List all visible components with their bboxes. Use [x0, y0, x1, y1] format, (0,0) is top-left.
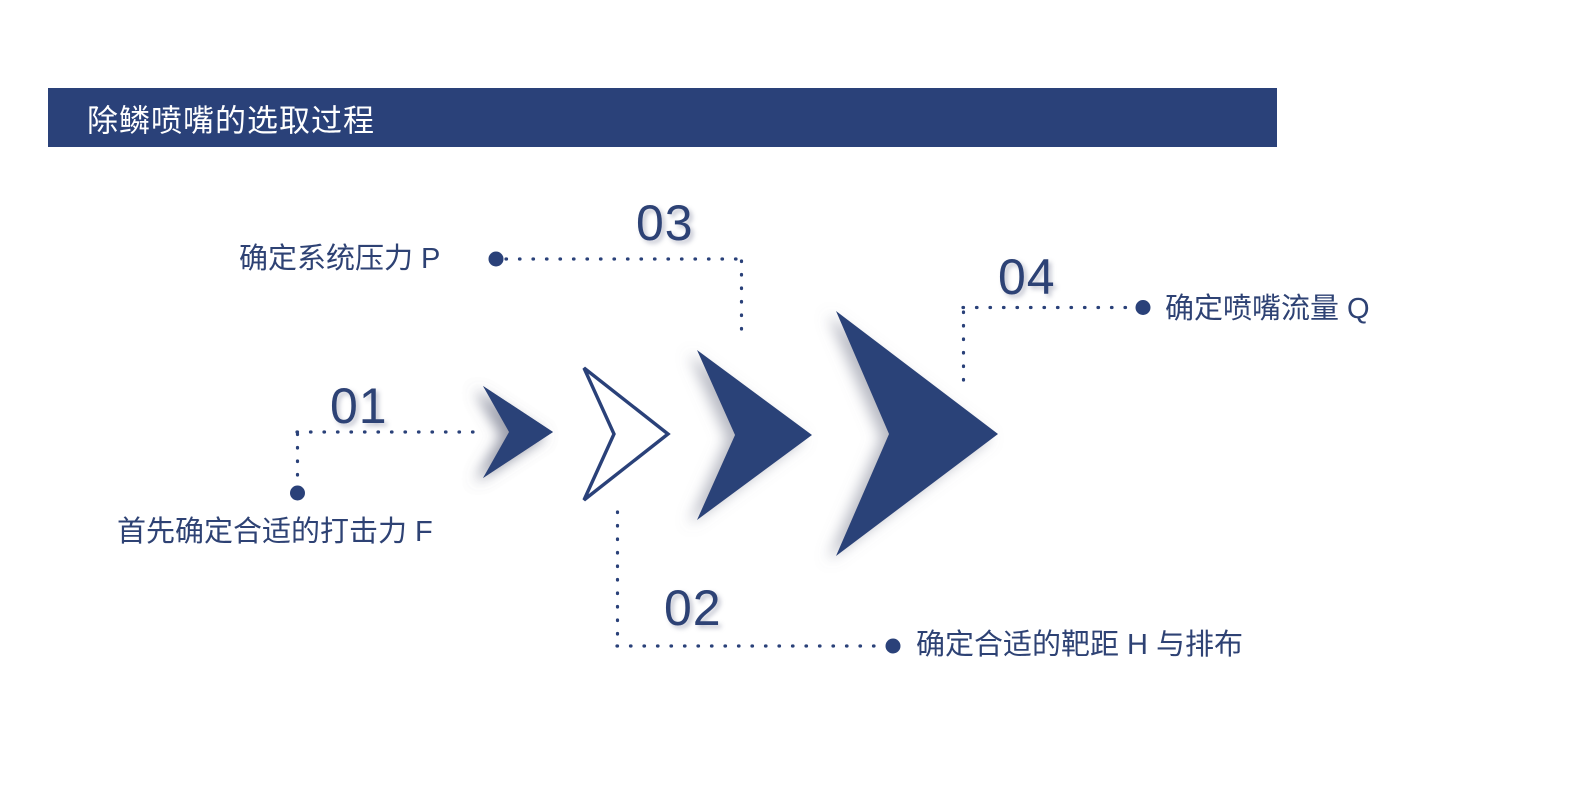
step-number-02: 02: [664, 583, 722, 633]
step-number-01: 01: [330, 381, 388, 431]
step-label-04: 确定喷嘴流量 Q: [1165, 295, 1370, 324]
connector-02-endpoint-dot: [886, 639, 901, 654]
connector-step-04: [963, 300, 1151, 380]
step-label-02: 确定合适的靶距 H 与排布: [916, 631, 1243, 660]
step-label-03: 确定系统压力 P: [239, 245, 440, 274]
chevron-arrow-3: [697, 350, 812, 520]
connector-04-endpoint-dot: [1136, 300, 1151, 315]
chevron-arrow-2: [584, 368, 668, 500]
chevron-arrow-1-body: [483, 386, 553, 478]
chevron-arrow-4: [836, 311, 998, 556]
connector-03-endpoint-dot: [489, 252, 504, 267]
process-flow-diagram: [0, 0, 1575, 807]
connector-step-01: [290, 432, 478, 501]
connector-step-03: [489, 252, 742, 343]
step-number-04: 04: [998, 252, 1056, 302]
slide-canvas: 除鳞喷嘴的选取过程: [0, 0, 1575, 807]
connector-01-endpoint-dot: [290, 486, 305, 501]
step-label-01: 首先确定合适的打击力 F: [117, 518, 433, 547]
step-number-03: 03: [636, 198, 694, 248]
